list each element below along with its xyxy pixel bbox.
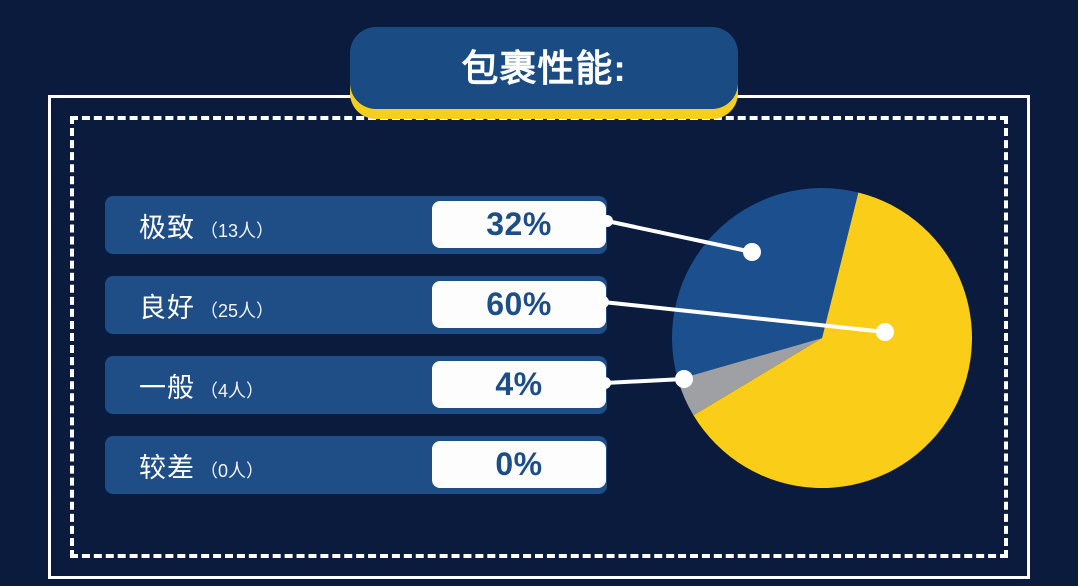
stat-label: 良好 （25人） [139, 286, 274, 325]
stat-name: 极致 [139, 206, 195, 245]
stat-count: （25人） [200, 297, 274, 323]
stat-value: 4% [495, 366, 542, 403]
stat-count: （13人） [200, 217, 274, 243]
stat-value: 0% [495, 446, 542, 483]
stat-label: 一般 （4人） [139, 366, 264, 405]
stat-name: 良好 [139, 286, 195, 325]
stat-value: 60% [486, 286, 552, 323]
title-banner-pill: 包裹性能: [350, 27, 738, 109]
title-banner: 包裹性能: [350, 27, 738, 119]
stat-value-box: 32% [432, 201, 606, 248]
stat-label: 极致 （13人） [139, 206, 274, 245]
infographic-canvas: 包裹性能: 极致 （13人） 32% 良好 （25人） 60% 一般 [0, 0, 1078, 586]
stat-value-box: 0% [432, 441, 606, 488]
page-title: 包裹性能: [461, 50, 626, 87]
stat-value-box: 4% [432, 361, 606, 408]
stat-count: （0人） [200, 457, 264, 483]
stat-bar-list: 极致 （13人） 32% 良好 （25人） 60% 一般 （4人） 4% [105, 196, 607, 516]
stat-value-box: 60% [432, 281, 606, 328]
stat-value: 32% [486, 206, 552, 243]
stat-name: 一般 [139, 366, 195, 405]
stat-name: 较差 [139, 446, 195, 485]
stat-label: 较差 （0人） [139, 446, 264, 485]
table-row[interactable]: 极致 （13人） 32% [105, 196, 607, 254]
stat-count: （4人） [200, 377, 264, 403]
table-row[interactable]: 良好 （25人） 60% [105, 276, 607, 334]
table-row[interactable]: 一般 （4人） 4% [105, 356, 607, 414]
table-row[interactable]: 较差 （0人） 0% [105, 436, 607, 494]
